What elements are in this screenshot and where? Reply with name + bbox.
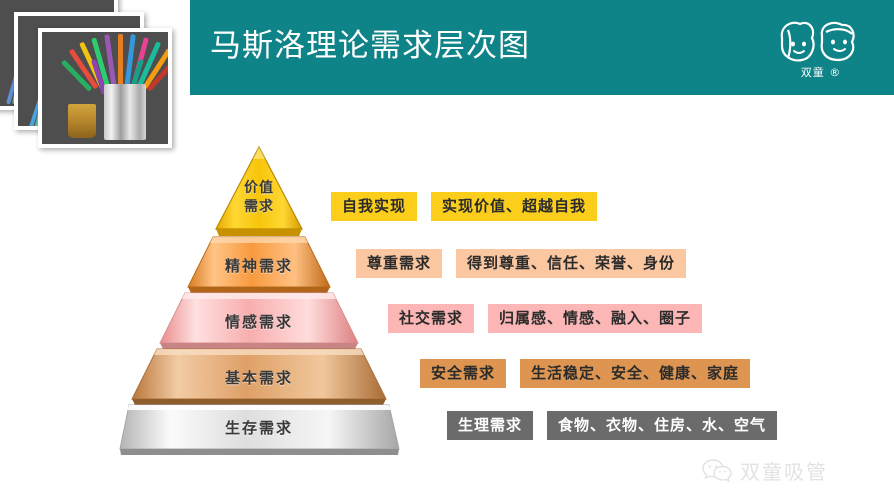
callout-row-social: 社交需求 归属感、情感、融入、圈子 bbox=[388, 304, 702, 333]
need-chip[interactable]: 自我实现 bbox=[331, 192, 417, 221]
photo-thumbnail-front bbox=[38, 28, 172, 148]
pyramid-tier-survival-needs[interactable]: 生存需求 bbox=[118, 401, 400, 453]
logo-text: 双童 ® bbox=[786, 64, 856, 80]
callout-row-self-actualization: 自我实现 实现价值、超越自我 bbox=[331, 192, 597, 221]
description-chip[interactable]: 生活稳定、安全、健康、家庭 bbox=[520, 359, 750, 388]
shuangtong-logo: 双童 ® bbox=[766, 16, 870, 82]
need-chip[interactable]: 社交需求 bbox=[388, 304, 474, 333]
need-chip[interactable]: 尊重需求 bbox=[356, 249, 442, 278]
callout-row-safety: 安全需求 生活稳定、安全、健康、家庭 bbox=[420, 359, 750, 388]
watermark: 双童吸管 bbox=[702, 456, 828, 485]
slide-canvas: 马斯洛理论需求层次图 双童 ® bbox=[0, 0, 894, 500]
description-chip[interactable]: 得到尊重、信任、荣誉、身份 bbox=[456, 249, 686, 278]
wechat-icon bbox=[702, 458, 732, 484]
pyramid-tier-emotional-needs[interactable]: 情感需求 bbox=[118, 289, 400, 351]
callout-row-esteem: 尊重需求 得到尊重、信任、荣誉、身份 bbox=[356, 249, 686, 278]
description-chip[interactable]: 食物、衣物、住房、水、空气 bbox=[547, 411, 777, 440]
callout-row-physiological: 生理需求 食物、衣物、住房、水、空气 bbox=[447, 411, 777, 440]
photo-image bbox=[42, 32, 168, 144]
watermark-text: 双童吸管 bbox=[740, 456, 828, 485]
need-chip[interactable]: 安全需求 bbox=[420, 359, 506, 388]
pyramid-tier-basic-needs[interactable]: 基本需求 bbox=[118, 345, 400, 407]
pyramid-tier-value-needs[interactable]: 价值 需求 bbox=[118, 145, 400, 237]
description-chip[interactable]: 实现价值、超越自我 bbox=[431, 192, 597, 221]
maslow-pyramid: 价值 需求 精神需求 bbox=[118, 145, 400, 450]
page-title: 马斯洛理论需求层次图 bbox=[210, 26, 530, 66]
need-chip[interactable]: 生理需求 bbox=[447, 411, 533, 440]
description-chip[interactable]: 归属感、情感、融入、圈子 bbox=[488, 304, 702, 333]
